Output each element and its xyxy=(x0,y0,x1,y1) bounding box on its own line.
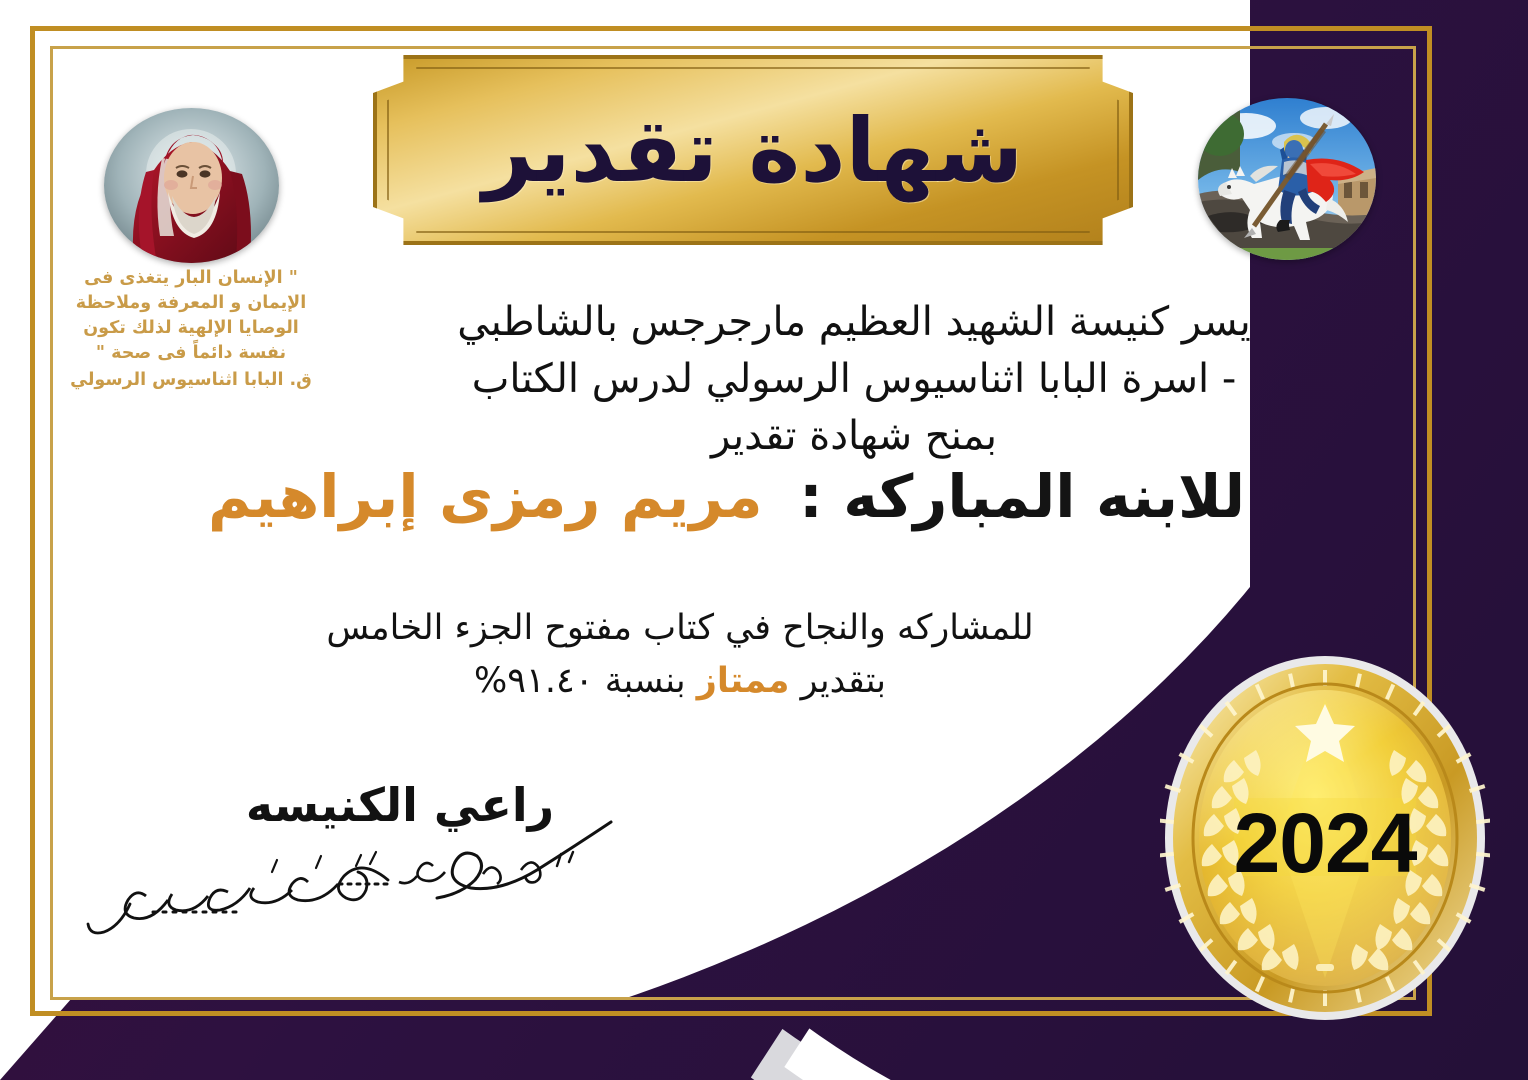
recipient-name: مريم رمزى إبراهيم xyxy=(208,462,763,531)
recipient-label: للابنه المباركه : xyxy=(799,462,1245,531)
body-line-3: بمنح شهادة تقدير xyxy=(300,408,1408,465)
recipient-line: للابنه المباركه : مريم رمزى إبراهيم xyxy=(215,462,1245,531)
title-plaque: شهادة تقدير xyxy=(373,55,1133,245)
grade-prefix: بتقدير xyxy=(801,661,886,701)
certificate-canvas: شهادة تقدير xyxy=(0,0,1528,1080)
gold-medal-icon: 2024 xyxy=(1160,652,1490,1024)
saint-athanasius-portrait-icon xyxy=(104,108,279,263)
achievement-line-2: بتقدير ممتاز بنسبة ٩١.٤٠% xyxy=(200,655,1160,708)
body-line-2: - اسرة البابا اثناسيوس الرسولي لدرس الكت… xyxy=(300,351,1408,408)
grade-value: ممتاز xyxy=(697,661,790,701)
achievement-line-1: للمشاركه والنجاح في كتاب مفتوح الجزء الخ… xyxy=(200,602,1160,655)
body-line-1: يسر كنيسة الشهيد العظيم مارجرجس بالشاطبي xyxy=(300,294,1408,351)
medal-year: 2024 xyxy=(1160,652,1490,1024)
signature-deacon-left xyxy=(70,838,400,948)
quote-author: ق. البابا اثناسيوس الرسولي xyxy=(62,368,320,393)
page-title: شهادة تقدير xyxy=(373,55,1133,245)
quote-block: " الإنسان البار يتغذى فى الإيمان و المعر… xyxy=(62,266,320,393)
saint-george-horseman-icon xyxy=(1198,98,1376,260)
quote-text: " الإنسان البار يتغذى فى الإيمان و المعر… xyxy=(76,268,306,363)
body-text: يسر كنيسة الشهيد العظيم مارجرجس بالشاطبي… xyxy=(300,294,1408,464)
achievement-block: للمشاركه والنجاح في كتاب مفتوح الجزء الخ… xyxy=(200,602,1160,707)
grade-percentage: بنسبة ٩١.٤٠% xyxy=(474,661,686,701)
